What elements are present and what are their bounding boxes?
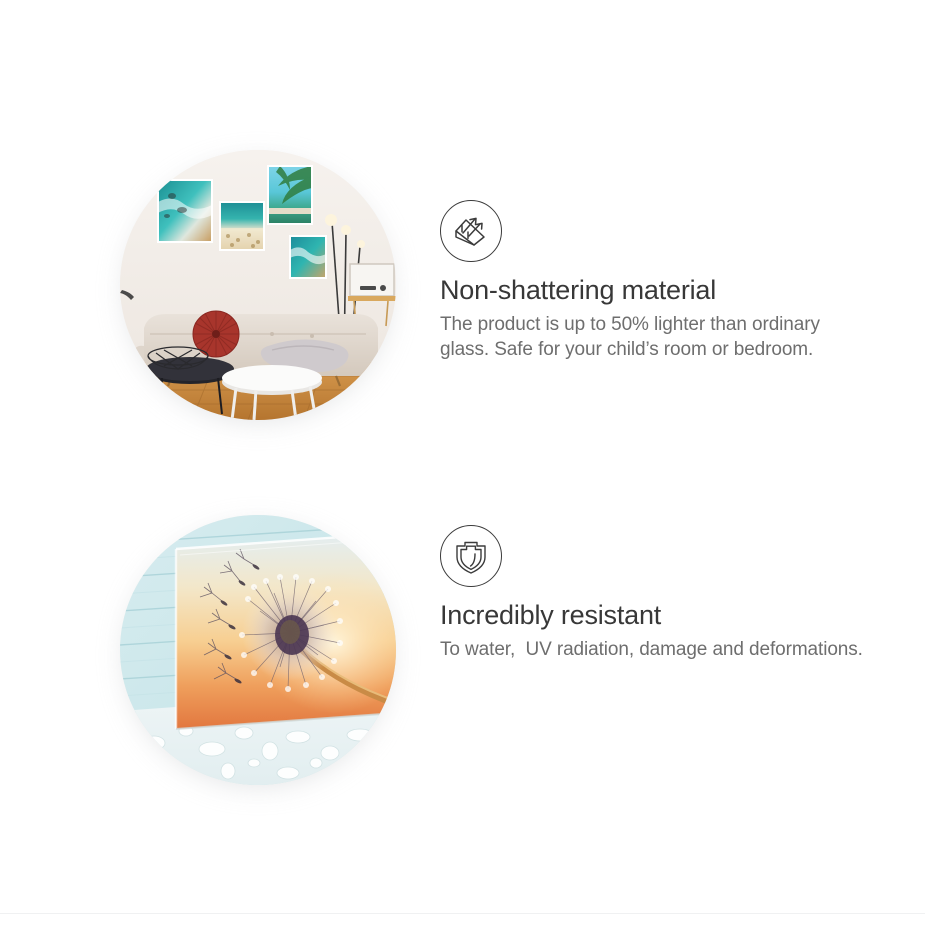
feature-text-column: Non-shattering material The product is u… [440,150,880,362]
layered-panel-arrows-icon [440,200,502,262]
feature-title: Non-shattering material [440,276,880,306]
feature-photo-wrapper [120,150,396,420]
shield-icon [440,525,502,587]
feature-page: Non-shattering material The product is u… [0,0,925,927]
dandelion-glass-print-photo [120,515,396,785]
feature-text-column: Incredibly resistant To water, UV radiat… [440,515,880,662]
footer-divider [0,913,925,914]
feature-body: To water, UV radiation, damage and defor… [440,637,870,662]
feature-title: Incredibly resistant [440,601,880,631]
feature-photo-wrapper [120,515,396,785]
feature-body: The product is up to 50% lighter than or… [440,312,870,363]
living-room-wall-art-photo [120,150,396,420]
feature-block-incredibly-resistant: Incredibly resistant To water, UV radiat… [0,515,925,795]
feature-block-non-shattering: Non-shattering material The product is u… [0,150,925,430]
